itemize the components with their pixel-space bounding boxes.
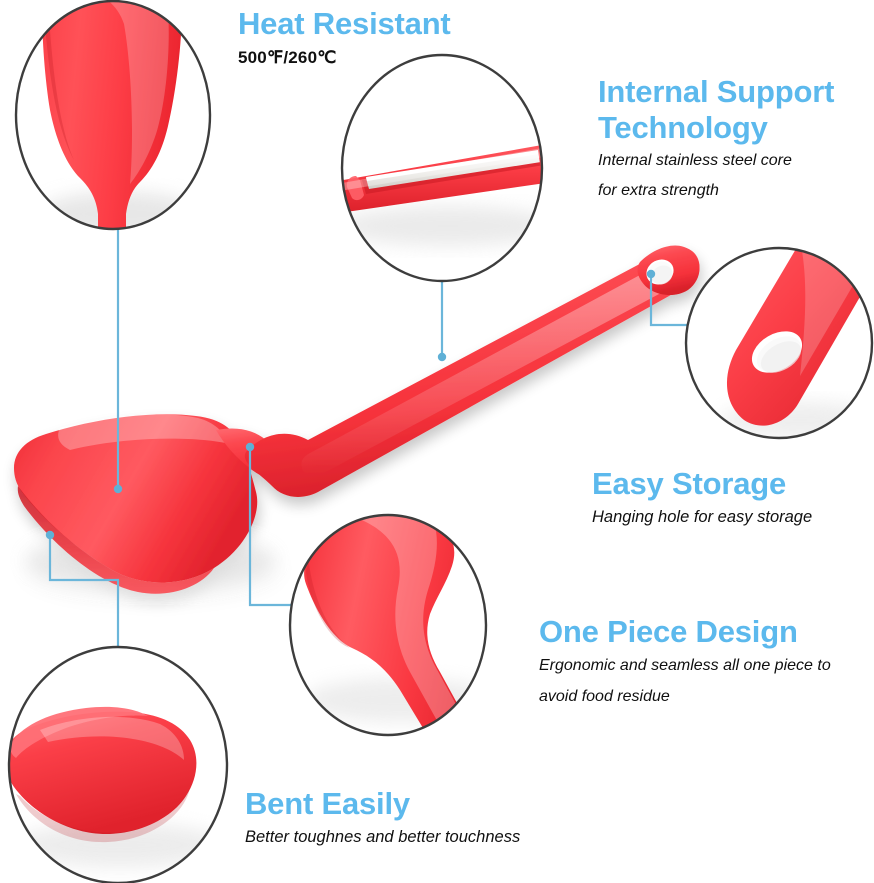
dot-internal-support — [438, 353, 446, 361]
heading-heat-resistant: Heat Resistant — [238, 6, 451, 42]
dot-easy-storage — [647, 270, 655, 278]
callout-text-heat-resistant: Heat Resistant 500℉/260℃ — [238, 6, 451, 73]
heading-one-piece-design: One Piece Design — [539, 614, 831, 650]
subtext-easy-storage-line1: Hanging hole for easy storage — [592, 502, 812, 533]
heading-bent-easily: Bent Easily — [245, 786, 520, 822]
subtext-internal-support-line1: Internal stainless steel core — [598, 146, 874, 176]
callout-circle-bent-easily — [5, 647, 227, 883]
subtext-bent-easily-line1: Better toughnes and better touchness — [245, 822, 520, 853]
heading-easy-storage: Easy Storage — [592, 466, 812, 502]
callout-circle-internal-support — [324, 55, 572, 281]
heading-internal-support: Internal Support Technology — [598, 74, 874, 146]
subtext-internal-support-line2: for extra strength — [598, 176, 874, 206]
callout-circle-heat-resistant — [16, 0, 210, 250]
dot-bent-easily — [46, 531, 54, 539]
callout-circle-easy-storage — [686, 214, 874, 438]
dot-heat-resistant — [114, 485, 122, 493]
callout-text-easy-storage: Easy Storage Hanging hole for easy stora… — [592, 466, 812, 533]
callout-text-bent-easily: Bent Easily Better toughnes and better t… — [245, 786, 520, 853]
dot-one-piece-design — [246, 443, 254, 451]
callout-circle-one-piece-design — [290, 512, 496, 776]
callout-text-internal-support: Internal Support Technology Internal sta… — [598, 74, 874, 206]
callout-text-one-piece-design: One Piece Design Ergonomic and seamless … — [539, 614, 831, 712]
subtext-heat-resistant-temperature: 500℉/260℃ — [238, 42, 451, 73]
subtext-one-piece-design-line2: avoid food residue — [539, 681, 831, 712]
product-infographic: Heat Resistant 500℉/260℃ Internal Suppor… — [0, 0, 874, 883]
subtext-one-piece-design-line1: Ergonomic and seamless all one piece to — [539, 650, 831, 681]
